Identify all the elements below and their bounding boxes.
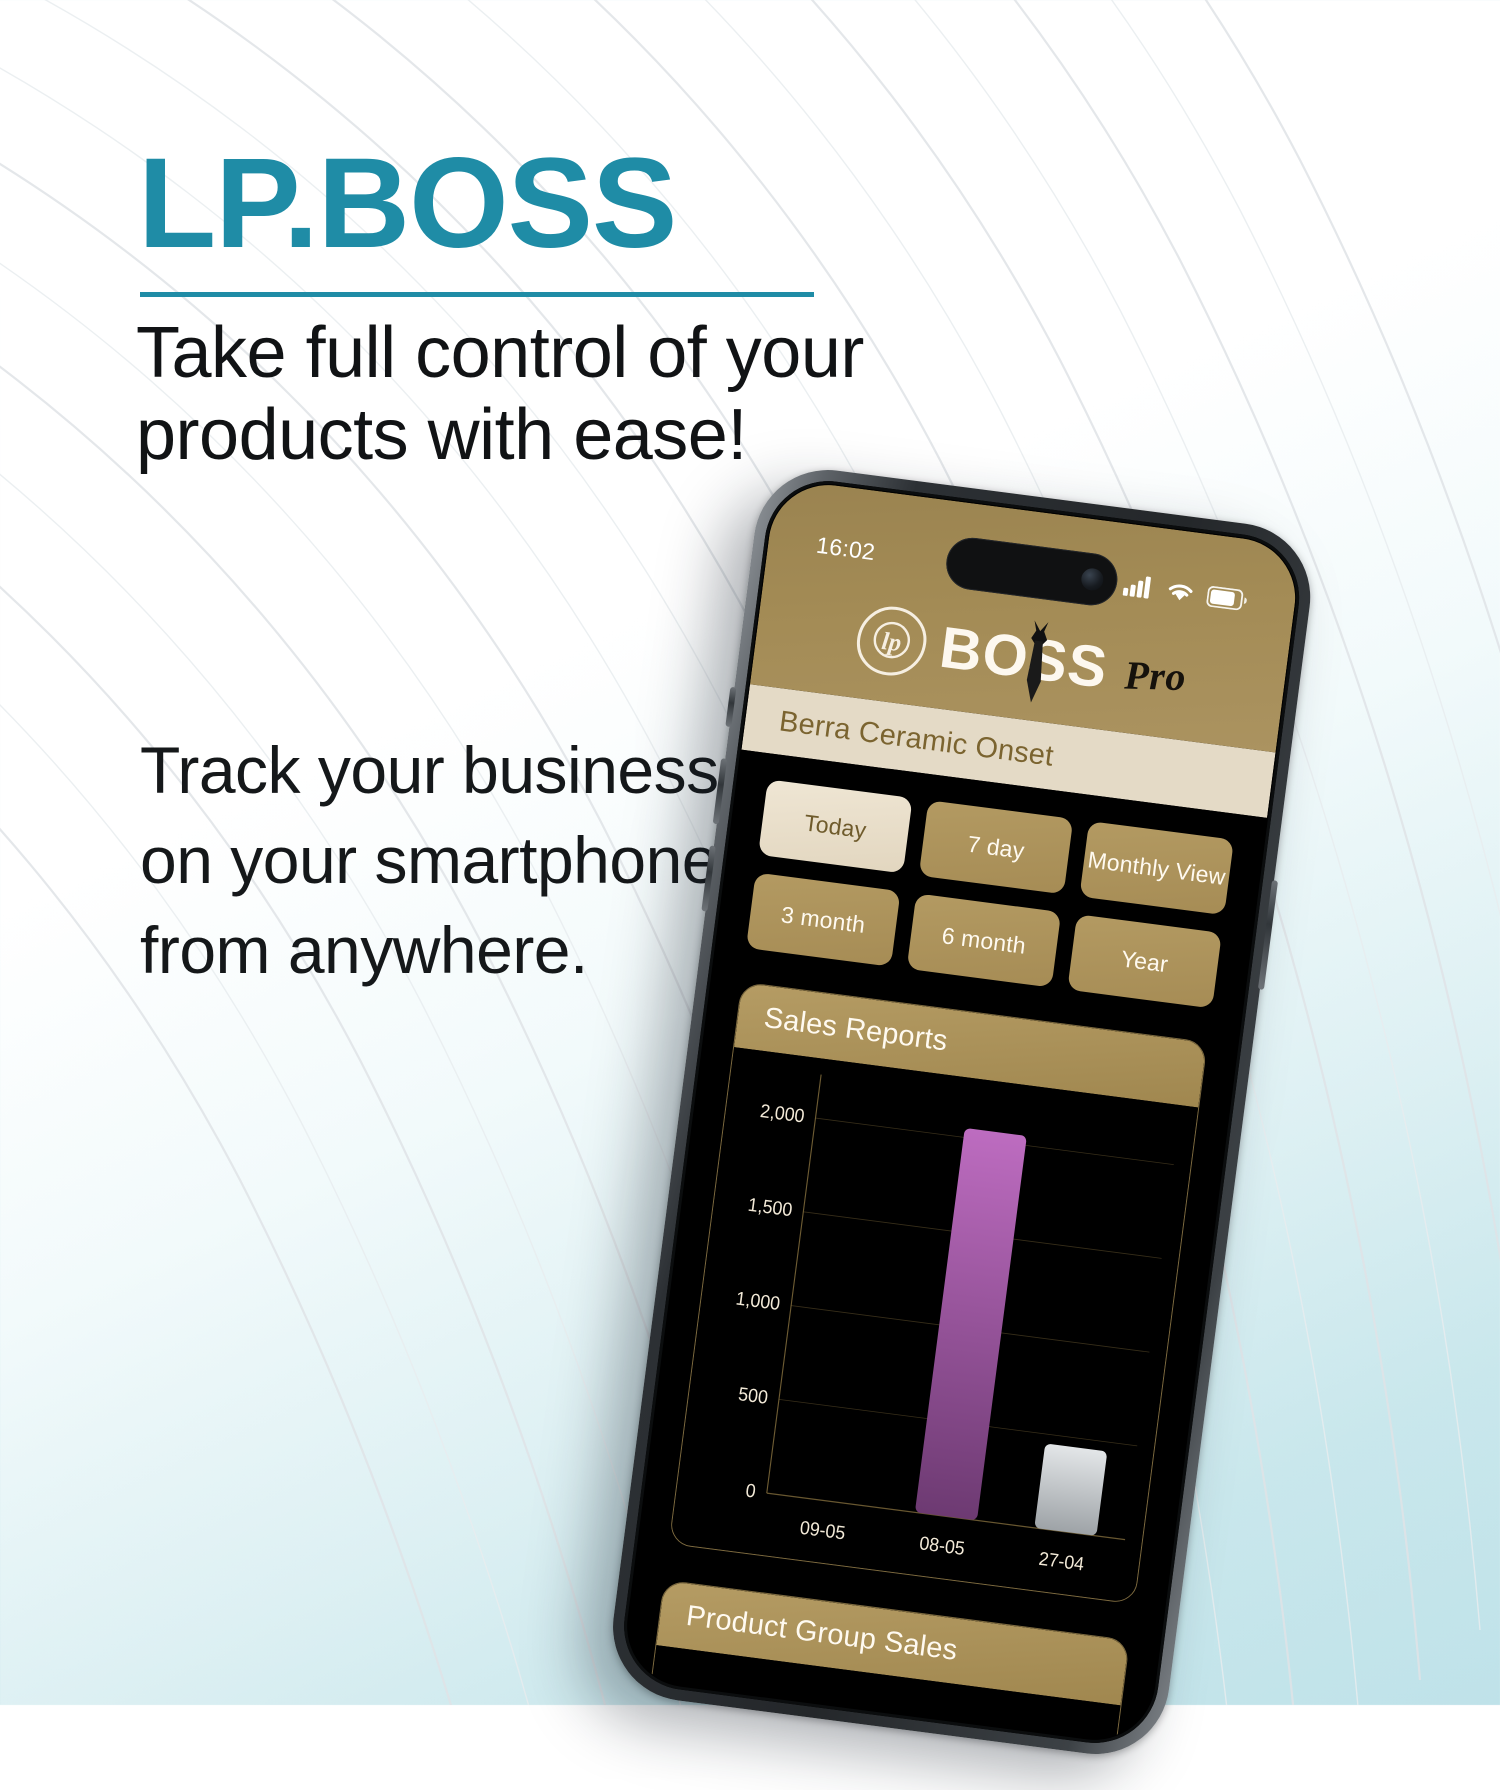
app-content: Today 7 day Monthly View 3 month 6 month… <box>621 750 1267 1746</box>
svg-text:27-04: 27-04 <box>1038 1547 1086 1574</box>
product-group-sales-card: Product Group Sales <box>644 1580 1130 1747</box>
filter-chip-3month[interactable]: 3 month <box>746 873 901 967</box>
svg-text:2,000: 2,000 <box>759 1099 806 1126</box>
bar-chart-svg: 05001,0001,5002,00009-0508-0527-04 <box>670 1047 1198 1603</box>
svg-text:0: 0 <box>745 1479 758 1502</box>
filter-chip-year[interactable]: Year <box>1067 914 1222 1008</box>
filter-chip-6month[interactable]: 6 month <box>907 893 1062 987</box>
lp-badge-icon: lp <box>850 600 933 683</box>
date-range-filters: Today 7 day Monthly View 3 month 6 month… <box>746 779 1234 1008</box>
cellular-signal-icon <box>1122 574 1155 600</box>
headline-text: Take full control of your products with … <box>136 312 1046 476</box>
necktie-icon <box>1018 618 1055 707</box>
subheadline-text: Track your business on your smartphone f… <box>140 726 780 995</box>
status-icon-group <box>1122 574 1248 612</box>
app-logo-word: BOSS <box>937 619 1111 698</box>
svg-text:lp: lp <box>880 628 903 657</box>
power-button[interactable] <box>1258 880 1278 990</box>
status-time: 16:02 <box>815 531 877 565</box>
battery-icon <box>1206 585 1248 611</box>
brand-underline <box>140 292 814 297</box>
svg-text:08-05: 08-05 <box>918 1532 966 1559</box>
wifi-icon <box>1164 579 1197 605</box>
svg-text:500: 500 <box>737 1383 769 1408</box>
filter-chip-today[interactable]: Today <box>758 779 913 873</box>
sales-reports-chart[interactable]: 05001,0001,5002,00009-0508-0527-04 <box>670 1047 1198 1603</box>
filter-chip-7day[interactable]: 7 day <box>919 800 1074 894</box>
svg-text:1,000: 1,000 <box>735 1287 782 1314</box>
filter-chip-monthly-view[interactable]: Monthly View <box>1079 821 1234 915</box>
svg-text:1,500: 1,500 <box>747 1193 794 1220</box>
app-logo-suffix: Pro <box>1124 651 1187 699</box>
dynamic-island <box>943 535 1120 609</box>
svg-text:09-05: 09-05 <box>799 1516 847 1543</box>
brand-title: LP.BOSS <box>138 140 676 268</box>
sales-reports-card: Sales Reports 05001,0001,5002,00009-0508… <box>669 982 1208 1605</box>
